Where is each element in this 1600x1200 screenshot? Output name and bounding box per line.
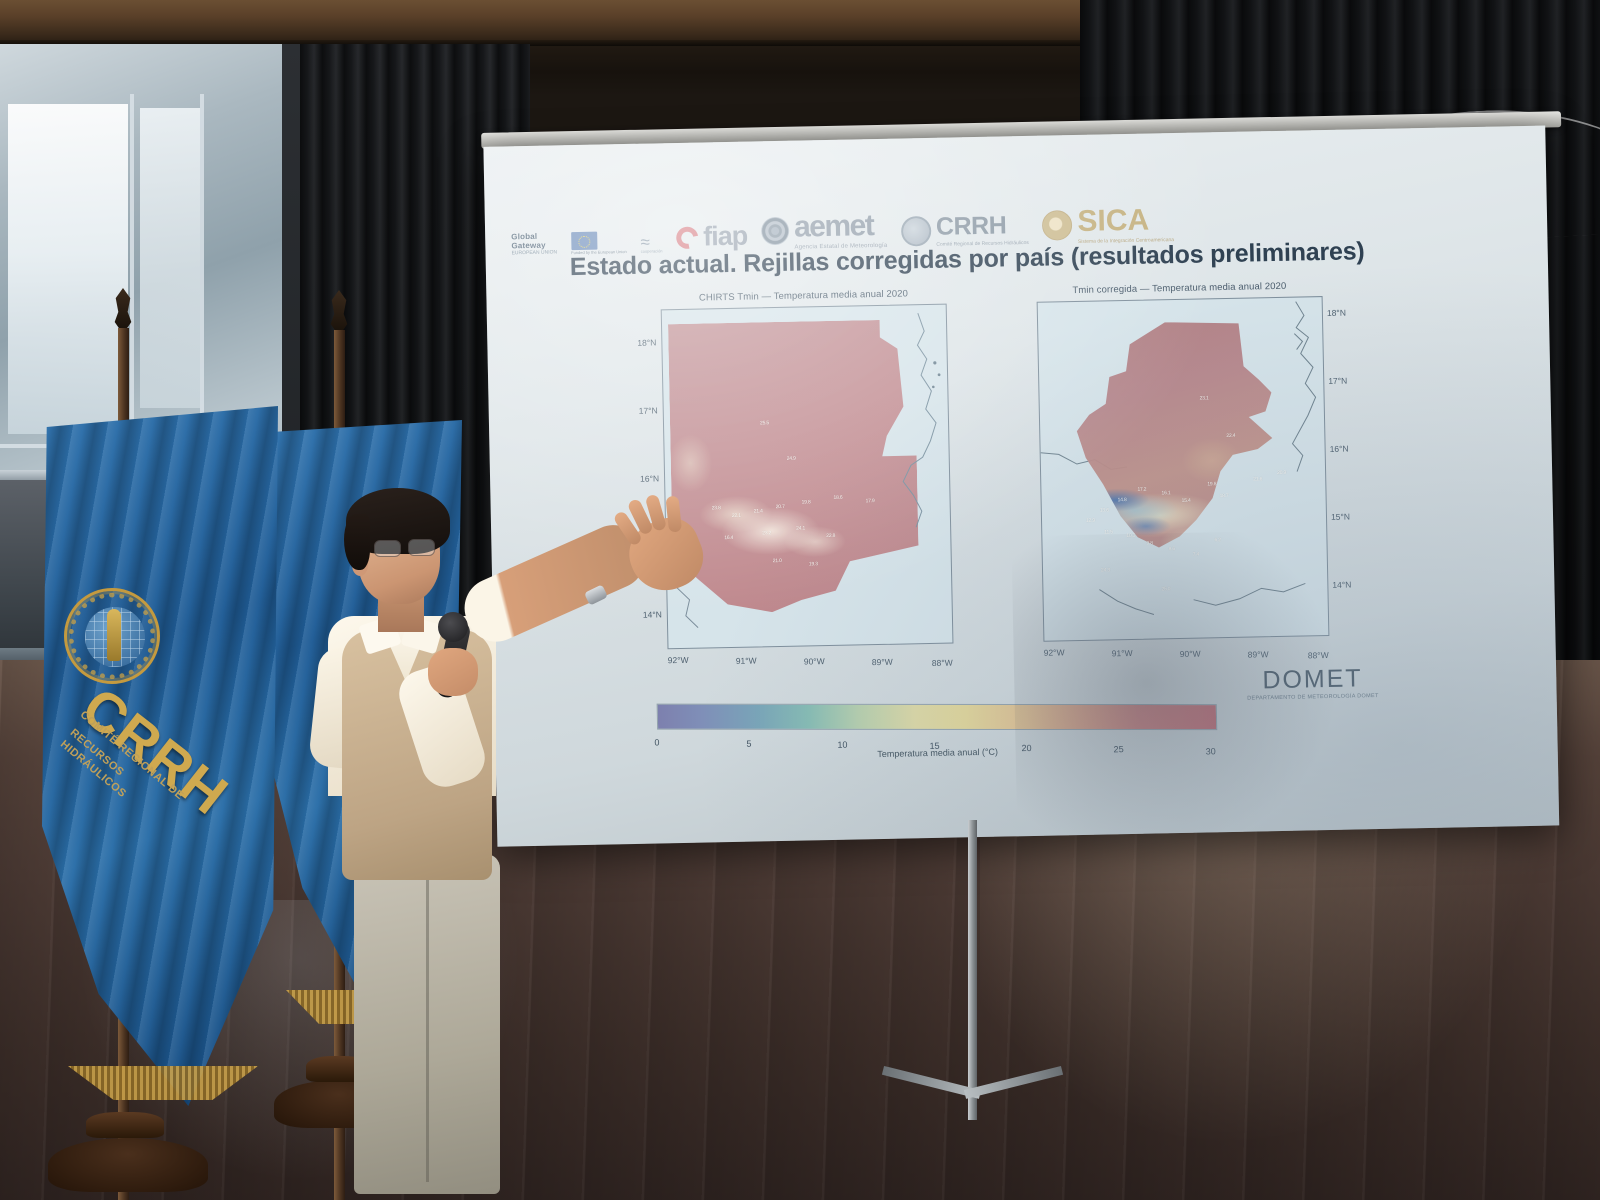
station-label: 13.6: [1100, 507, 1109, 513]
finger: [665, 496, 682, 533]
station-label: 7.4: [1193, 552, 1199, 558]
chirts-ytick: 18°N: [637, 337, 656, 347]
colorbar-tick: 5: [746, 739, 751, 749]
eyeglasses: [374, 540, 440, 558]
corregida-ytick: 17°N: [1328, 376, 1347, 386]
station-label: 24.3: [1101, 567, 1110, 573]
station-label: 23.2: [762, 530, 771, 536]
crrh-logo: CRRH Comité Regional de Recursos Hidrául…: [901, 211, 1029, 249]
station-label: 22.4: [1226, 433, 1235, 439]
eyeglass-lens-right: [408, 539, 435, 556]
crrh-flag-front: CRRH COMITÉ REGIONAL DE RECURSOS HIDRÁUL…: [28, 288, 328, 1168]
presenter-sideburn: [344, 514, 370, 570]
station-label: 24.1: [796, 525, 805, 531]
presenter: [300, 470, 720, 1200]
station-label: 25.0: [1161, 586, 1170, 592]
corregida-ytick: 14°N: [1332, 580, 1351, 590]
colorbar-tick: 10: [837, 740, 847, 750]
station-label: 6.2: [1214, 537, 1220, 543]
station-label: 20.9: [1277, 470, 1286, 476]
crrh-crest-icon: [64, 588, 160, 684]
station-label: 23.1: [1200, 395, 1209, 401]
domet-subtitle: DEPARTAMENTO DE METEOROLOGÍA DOMET: [1247, 693, 1379, 702]
fiap-label: fiap: [703, 221, 748, 253]
eyeglass-lens-left: [374, 540, 401, 557]
station-label: 8.6: [1169, 546, 1175, 552]
station-label: 11.5: [1104, 529, 1113, 535]
fiap-logo: fiap: [676, 221, 748, 253]
station-label: 25.5: [760, 420, 769, 426]
station-label: 19.3: [809, 561, 818, 567]
fiap-mark-icon: [672, 222, 703, 253]
global-gateway-caption: EUROPEAN UNION: [511, 249, 557, 256]
station-label: 21.0: [773, 558, 782, 564]
trouser-seam: [426, 862, 429, 1182]
corregida-ytick: 16°N: [1330, 444, 1349, 454]
presenter-mic-hand: [428, 648, 478, 696]
aemet-logo: aemet Agencia Estatal de Meteorología: [761, 209, 888, 252]
corregida-xtick: 90°W: [1180, 649, 1201, 659]
station-label: 19.8: [1207, 481, 1216, 487]
screen-stand-pole: [968, 820, 977, 1120]
station-label: 14.8: [1118, 497, 1127, 503]
aemet-swirl-icon: [761, 217, 790, 246]
crrh-globe-icon: [901, 215, 932, 246]
station-label: 17.9: [866, 498, 875, 504]
corregida-xtick: 92°W: [1044, 647, 1065, 657]
domet-logo: DOMET DEPARTAMENTO DE METEOROLOGÍA DOMET: [1247, 664, 1379, 702]
chirts-ytick: 17°N: [639, 405, 658, 415]
station-label: 18.6: [833, 495, 842, 501]
corregida-xtick: 89°W: [1248, 649, 1269, 659]
station-label: 10.3: [1126, 533, 1135, 539]
presenter-pointing-hand: [620, 509, 713, 601]
station-label: 20.7: [776, 504, 785, 510]
chirts-panel-title: CHIRTS Tmin — Temperatura media anual 20…: [638, 287, 968, 305]
flag-fringe: [68, 1066, 258, 1100]
corregida-panel-title: Tmin corregida — Temperatura media anual…: [1014, 280, 1344, 298]
colorbar-group: 0 5 10 15 20 25 30 Temperatura media anu…: [657, 695, 1397, 710]
corregida-ytick: 18°N: [1327, 308, 1346, 318]
station-label: 21.4: [754, 508, 763, 514]
sica-label: SICA: [1077, 203, 1174, 239]
station-label: 21.6: [1253, 476, 1262, 482]
flag-base-top: [86, 1112, 164, 1138]
eu-flag-icon: [571, 232, 597, 251]
station-label: 24.9: [787, 456, 796, 462]
flag-base: [48, 1138, 208, 1192]
corregida-xtick: 88°W: [1308, 650, 1329, 660]
station-label: 18.7: [1220, 493, 1229, 499]
sica-logo: SICA Sistema de la Integración Centroame…: [1042, 203, 1174, 246]
squiggle-icon: ≈: [640, 236, 662, 248]
station-label: 19.8: [802, 499, 811, 505]
station-label: 22.1: [732, 513, 741, 519]
station-label: 15.4: [1182, 498, 1191, 504]
colorbar-gradient: [657, 704, 1218, 730]
crest-figure-icon: [107, 609, 121, 661]
chirts-xtick: 89°W: [872, 657, 893, 667]
chirts-xtick: 91°W: [736, 655, 757, 665]
station-label: 17.2: [1137, 487, 1146, 493]
station-label: 22.8: [826, 533, 835, 539]
chirts-xtick: 90°W: [804, 656, 825, 666]
conference-room-scene: Global Gateway EUROPEAN UNION Funded by …: [0, 0, 1600, 1200]
station-label: 16.1: [1161, 490, 1170, 496]
station-label: 12.9: [1086, 518, 1095, 524]
station-label: 9.8: [1146, 541, 1152, 547]
global-gateway-logo: Global Gateway EUROPEAN UNION: [511, 231, 557, 256]
crrh-label: CRRH: [936, 211, 1029, 242]
chart-panels: CHIRTS Tmin — Temperatura media anual 20…: [638, 279, 1386, 694]
sica-seal-icon: [1042, 210, 1073, 241]
chirts-xtick: 88°W: [932, 658, 953, 668]
microphone-head-icon: [438, 612, 468, 642]
corregida-axes: 23.1 22.4 21.6 20.9 19.8 18.7 17.2 16.1 …: [1037, 296, 1330, 642]
station-label: 16.4: [724, 535, 733, 541]
corregida-ytick: 15°N: [1331, 512, 1350, 522]
tmin-corregida-panel: Tmin corregida — Temperatura media anual…: [1014, 280, 1352, 687]
aemet-label: aemet: [794, 209, 888, 245]
domet-label: DOMET: [1247, 664, 1379, 696]
corregida-xtick: 91°W: [1112, 648, 1133, 658]
